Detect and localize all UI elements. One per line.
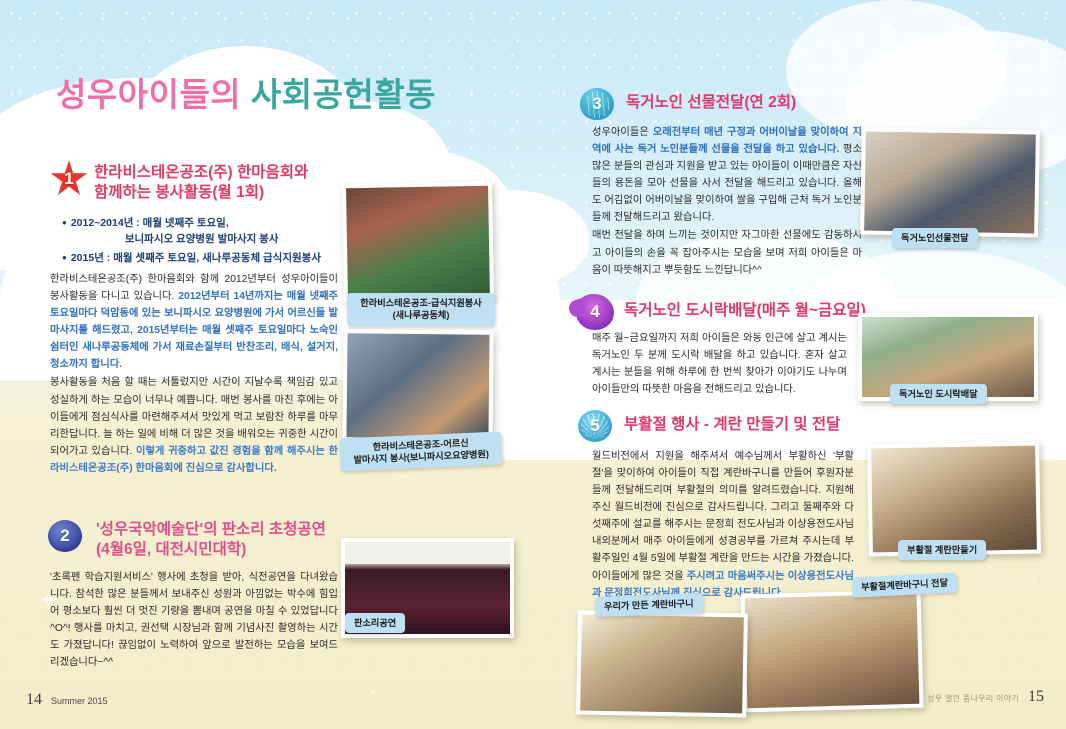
page-title-part2: 사회공헌활동: [251, 76, 436, 113]
photo-foot-massage: [342, 329, 493, 443]
paragraph: 성우아이들은 오래전부터 매년 구정과 어버이날을 맞이하여 지역에 사는 독거…: [592, 124, 862, 226]
paragraph: 매번 전달을 하며 느끼는 것이지만 자그마한 선물에도 감동하시고 아이들의 …: [592, 227, 862, 278]
section-2-title: '성우국악예술단'의 판소리 초청공연 (4월6일, 대전시민대학): [96, 520, 326, 560]
section-2-heading: 2 '성우국악예술단'의 판소리 초청공연 (4월6일, 대전시민대학): [48, 520, 326, 560]
section-5-title: 부활절 행사 - 계란 만들기 및 전달: [624, 410, 840, 435]
shell-badge-icon: 3: [580, 88, 614, 120]
section-3-heading: 3 독거노인 선물전달(연 2회): [580, 88, 796, 120]
bird-icon: ✈: [862, 60, 875, 75]
photo-egg-basket-give: [740, 590, 923, 713]
footer-left: 14 Summer 2015: [26, 691, 108, 709]
section-number: 3: [592, 94, 601, 114]
star-badge-icon: 1: [52, 163, 86, 195]
section-title-line: 부활절 행사 - 계란 만들기 및 전달: [624, 415, 840, 435]
page-title: 성우아이들의 사회공헌활동: [56, 68, 436, 116]
section-2-body: '초록펜 학습지원서비스' 행사에 초청을 받아, 식전공연을 다녀왔습니다. …: [50, 569, 338, 672]
section-number: 2: [60, 526, 69, 546]
section-title-line: 독거노인 선물전달(연 2회): [626, 93, 796, 113]
bird-icon: ✈: [880, 22, 897, 42]
photo-our-baskets-caption: 우리가 만든 계란바구니: [595, 593, 703, 617]
section-number: 4: [590, 302, 599, 322]
section-4-body: 매주 월~금요일까지 저희 아이들은 와동 인근에 살고 계시는 독거노인 두 …: [592, 330, 847, 399]
footer-left-label: Summer 2015: [51, 696, 108, 706]
caption-line: (새나루공동체): [393, 310, 450, 320]
section-1-bullets: ● 2012~2014년 : 매월 넷째주 토요일, 보니파시오 요양병원 발마…: [62, 215, 342, 268]
photo-halla-meal: [342, 182, 494, 303]
paragraph: 매주 월~금요일까지 저희 아이들은 와동 인근에 살고 계시는 독거노인 두 …: [592, 330, 847, 398]
section-5-body: 월드비전에서 지원을 해주셔서 예수님께서 부활하신 '부활절'을 맞이하여 아…: [592, 448, 854, 603]
photo-our-baskets: [576, 611, 748, 718]
section-1-heading: 1 한라비스테온공조(주) 한마음회와 함께하는 봉사활동(월 1회): [52, 163, 308, 203]
section-4-heading: 4 독거노인 도시락배달(매주 월~금요일): [578, 296, 866, 328]
photo-gift-delivery: [860, 127, 1040, 237]
photo-pansori-caption: 판소리공연: [345, 613, 405, 633]
circle-badge-icon: 2: [48, 520, 82, 552]
bullet-dot-icon: ●: [62, 250, 67, 265]
photo-halla-meal-caption: 한라비스테온공조-급식지원봉사 (새나루공동체): [347, 293, 495, 326]
paragraph: 월드비전에서 지원을 해주셔서 예수님께서 부활하신 '부활절'을 맞이하여 아…: [592, 448, 854, 602]
footer-right-label: 성우 열린 품나우리 이야기: [927, 693, 1019, 704]
paragraph: 한라비스테온공조(주) 한마음회와 함께 2012년부터 성우아이들이 봉사활동…: [50, 271, 338, 373]
paragraph: 봉사활동을 처음 할 때는 서툴렀지만 시간이 지날수록 책임감 있고 성실하게…: [50, 374, 338, 476]
caption-line: 한라비스테온공조-급식지원봉사: [360, 298, 481, 308]
paragraph: '초록펜 학습지원서비스' 행사에 초청을 받아, 식전공연을 다녀왔습니다. …: [50, 569, 338, 671]
section-title-line: '성우국악예술단'의 판소리 초청공연: [96, 520, 326, 540]
shell5-badge-icon: 5: [578, 410, 612, 442]
footer-right: 성우 열린 품나우리 이야기 15: [927, 688, 1044, 706]
page-title-part1: 성우아이들의: [56, 76, 241, 113]
bullet-dot-icon: ●: [62, 215, 67, 230]
section-1-body: 한라비스테온공조(주) 한마음회와 함께 2012년부터 성우아이들이 봉사활동…: [50, 271, 338, 478]
page-number-left: 14: [26, 691, 42, 709]
bird-icon: ✈: [905, 48, 918, 63]
section-title-line: 독거노인 도시락배달(매주 월~금요일): [624, 301, 866, 321]
photo-gift-delivery-caption: 독거노인선물전달: [892, 228, 978, 248]
section-4-title: 독거노인 도시락배달(매주 월~금요일): [624, 296, 866, 321]
section-title-line: (4월6일, 대전시민대학): [96, 540, 326, 560]
section-title-line: 한라비스테온공조(주) 한마음회와: [94, 163, 308, 183]
section-1-title: 한라비스테온공조(주) 한마음회와 함께하는 봉사활동(월 1회): [94, 163, 308, 203]
section-title-line: 함께하는 봉사활동(월 1회): [94, 183, 308, 203]
bullet-subtext: 보니파시오 요양병원 발마사지 봉사: [125, 231, 279, 247]
bullet-text: 2015년 : 매월 셋째주 토요일, 새나루공동체 급식지원봉사: [71, 250, 321, 266]
section-5-heading: 5 부활절 행사 - 계란 만들기 및 전달: [578, 410, 840, 442]
magazine-spread: ✈ ✈ ✈ ✦ ✦ 성우아이들의 사회공헌활동 1 한라비스테온공조(주) 한마…: [0, 0, 1066, 729]
section-3-body: 성우아이들은 오래전부터 매년 구정과 어버이날을 맞이하여 지역에 사는 독거…: [592, 124, 862, 280]
photo-lunchbox-caption: 독거노인 도시락배달: [890, 384, 987, 404]
flower-badge-icon: 4: [578, 296, 612, 328]
bullet-item: ● 2012~2014년 : 매월 넷째주 토요일, 보니파시오 요양병원 발마…: [62, 215, 342, 248]
photo-egg-making-caption: 부활절 계란만들기: [898, 540, 986, 560]
section-number: 5: [590, 416, 599, 436]
bullet-item: ● 2015년 : 매월 셋째주 토요일, 새나루공동체 급식지원봉사: [62, 250, 342, 266]
section-number: 1: [64, 169, 73, 189]
bullet-text: 2012~2014년 : 매월 넷째주 토요일,: [71, 217, 229, 229]
section-3-title: 독거노인 선물전달(연 2회): [626, 88, 796, 113]
page-number-right: 15: [1028, 688, 1044, 706]
